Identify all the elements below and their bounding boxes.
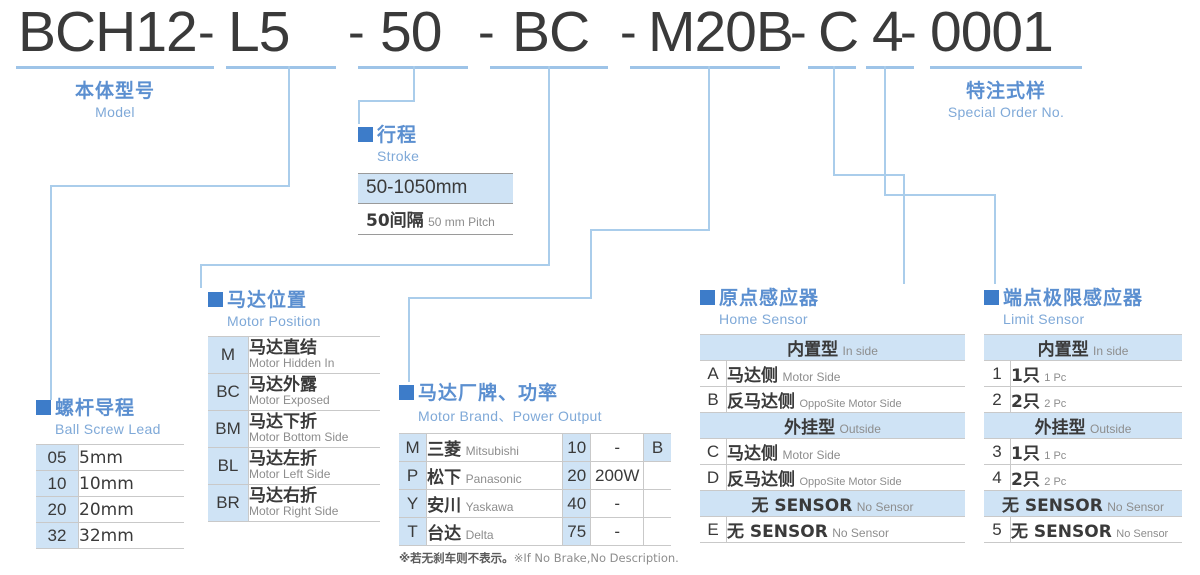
home-en-5: OppoSite Motor Side <box>799 476 901 488</box>
table-row: 5 无 SENSOR No Sensor <box>984 517 1182 543</box>
motorpos-cn-2: 马达下折 <box>249 414 380 431</box>
home-value-2: 反马达侧 OppoSite Motor Side <box>727 387 966 413</box>
bullet-square-icon <box>208 292 223 307</box>
brand-brake-1 <box>643 462 671 490</box>
home-en-4: Motor Side <box>782 448 840 462</box>
limit-code-4: 3 <box>984 439 1011 465</box>
brand-power-code-1: 20 <box>563 462 591 490</box>
section-special-title-cn: 特注式样 <box>966 80 1046 102</box>
limit-banner-en-6: No Sensor <box>1107 500 1164 514</box>
code-segment-motor-brand: M20B <box>648 2 793 62</box>
table-row: 4 2只 2 Pc <box>984 465 1182 491</box>
underline-special <box>930 66 1082 69</box>
brand-cn-0: 三菱 <box>427 440 461 460</box>
code-segment-stroke: 50 <box>380 2 441 62</box>
table-row-banner: 无 SENSOR No Sensor <box>700 491 965 517</box>
section-home-title-en: Home Sensor <box>700 311 965 327</box>
section-limit-header: 端点极限感应器 <box>984 283 1182 310</box>
limit-banner-en-0: In side <box>1093 344 1128 358</box>
stroke-pitch-row: 50间隔 50 mm Pitch <box>358 204 513 235</box>
connector-brand-v1 <box>708 66 710 231</box>
section-model: 本体型号 Model <box>35 76 195 120</box>
home-code-5: D <box>700 465 727 491</box>
brand-brake-0: B <box>643 434 671 462</box>
underline-model <box>16 66 214 69</box>
motorpos-code-2: BM <box>208 411 249 448</box>
section-lead-title-en: Ball Screw Lead <box>36 421 184 437</box>
limit-cn-1: 1只 <box>1011 366 1040 386</box>
limit-cn-7: 无 SENSOR <box>1011 522 1112 542</box>
home-banner-6: 无 SENSOR No Sensor <box>700 491 965 517</box>
bullet-square-icon <box>36 400 51 415</box>
motor-brand-table: M 三菱 Mitsubishi 10 - B P 松下 Panasonic 20… <box>399 433 671 546</box>
connector-stroke-h <box>358 100 415 102</box>
brand-brake-3 <box>643 518 671 546</box>
motorpos-code-0: M <box>208 337 249 374</box>
connector-motorpos-h <box>200 264 550 266</box>
table-row: E 无 SENSOR No Sensor <box>700 517 965 543</box>
section-home-title-cn: 原点感应器 <box>719 287 819 309</box>
limit-banner-0: 内置型 In side <box>984 335 1182 361</box>
table-row: 1 1只 1 Pc <box>984 361 1182 387</box>
code-segment-model: BCH12 <box>18 2 197 62</box>
underline-limit-sensor <box>866 66 914 69</box>
table-row-banner: 外挂型 Outside <box>700 413 965 439</box>
brand-power-1: 200W <box>591 462 644 490</box>
home-cn-5: 反马达侧 <box>727 470 795 490</box>
code-segment-home-sensor: C <box>818 2 858 62</box>
connector-brand-h1 <box>590 229 710 231</box>
code-segment-special: 0001 <box>930 2 1053 62</box>
brand-code-1: P <box>399 462 427 490</box>
lead-value-0: 5mm <box>79 445 185 471</box>
limit-banner-en-3: Outside <box>1090 422 1131 436</box>
underline-lead <box>226 66 336 69</box>
section-brand-title-en: Motor Brand、Power Output <box>399 406 679 426</box>
section-ball-screw-lead: 螺杆导程 Ball Screw Lead 05 5mm 10 10mm 20 2… <box>36 393 184 549</box>
connector-lead-v1 <box>288 66 290 186</box>
brand-name-3: 台达 Delta <box>427 518 563 546</box>
lead-code-2: 20 <box>36 497 79 523</box>
connector-motorpos-v2 <box>200 264 202 288</box>
motorpos-en-2: Motor Bottom Side <box>249 431 380 444</box>
table-row: BR 马达右折 Motor Right Side <box>208 485 380 522</box>
table-row: T 台达 Delta 75 - <box>399 518 671 546</box>
section-home-header: 原点感应器 <box>700 283 965 310</box>
lead-value-text-1: 10mm <box>79 474 134 494</box>
section-motorpos-title-en: Motor Position <box>208 313 380 329</box>
motor-brand-note: ※若无刹车则不表示。※If No Brake,No Description. <box>399 550 679 566</box>
motorpos-value-0: 马达直结 Motor Hidden In <box>249 337 381 374</box>
brand-cn-1: 松下 <box>427 468 461 488</box>
motor-brand-note-en: ※If No Brake,No Description. <box>514 551 679 565</box>
section-motorpos-header: 马达位置 <box>208 285 380 312</box>
table-row-banner: 无 SENSOR No Sensor <box>984 491 1182 517</box>
home-en-1: Motor Side <box>782 370 840 384</box>
brand-power-2: - <box>591 490 644 518</box>
section-model-title-cn: 本体型号 <box>75 80 155 102</box>
underline-home-sensor <box>808 66 856 69</box>
home-cn-7: 无 SENSOR <box>727 522 828 542</box>
limit-en-4: 1 Pc <box>1044 450 1066 462</box>
brand-en-2: Yaskawa <box>466 500 514 514</box>
table-row: C 马达侧 Motor Side <box>700 439 965 465</box>
brand-name-2: 安川 Yaskawa <box>427 490 563 518</box>
section-special-header: 特注式样 <box>930 76 1082 103</box>
limit-en-2: 2 Pc <box>1044 398 1066 410</box>
brand-en-1: Panasonic <box>466 472 522 486</box>
table-row-banner: 内置型 In side <box>984 335 1182 361</box>
home-code-2: B <box>700 387 727 413</box>
brand-name-1: 松下 Panasonic <box>427 462 563 490</box>
lead-code-1: 10 <box>36 471 79 497</box>
motorpos-en-4: Motor Right Side <box>249 505 380 518</box>
home-sensor-table: 内置型 In side A 马达侧 Motor Side B 反马达侧 Oppo… <box>700 334 965 543</box>
section-stroke: 行程 Stroke 50-1050mm 50间隔 50 mm Pitch <box>358 120 513 235</box>
stroke-range-value: 50-1050mm <box>358 173 513 204</box>
table-row: 20 20mm <box>36 497 184 523</box>
limit-code-5: 4 <box>984 465 1011 491</box>
limit-banner-cn-3: 外挂型 <box>1035 418 1086 438</box>
section-motorpos-title-cn: 马达位置 <box>227 289 307 311</box>
brand-power-code-3: 75 <box>563 518 591 546</box>
limit-code-7: 5 <box>984 517 1011 543</box>
bullet-square-icon <box>358 127 373 142</box>
motorpos-code-4: BR <box>208 485 249 522</box>
table-row: 05 5mm <box>36 445 184 471</box>
limit-value-1: 1只 1 Pc <box>1011 361 1183 387</box>
limit-value-2: 2只 2 Pc <box>1011 387 1183 413</box>
connector-home-h <box>833 174 905 176</box>
motorpos-value-2: 马达下折 Motor Bottom Side <box>249 411 381 448</box>
limit-cn-5: 2只 <box>1011 470 1040 490</box>
section-stroke-title-cn: 行程 <box>377 124 417 146</box>
section-lead-header: 螺杆导程 <box>36 393 184 420</box>
connector-brand-v3 <box>408 297 410 382</box>
table-row: D 反马达侧 OppoSite Motor Side <box>700 465 965 491</box>
limit-code-1: 1 <box>984 361 1011 387</box>
lead-value-1: 10mm <box>79 471 185 497</box>
code-dash-4: - <box>620 2 637 62</box>
motorpos-cn-0: 马达直结 <box>249 340 380 357</box>
bullet-square-icon <box>700 290 715 305</box>
home-value-5: 反马达侧 OppoSite Motor Side <box>727 465 966 491</box>
connector-lead-v2 <box>50 185 52 400</box>
brand-power-code-2: 40 <box>563 490 591 518</box>
motorpos-value-4: 马达右折 Motor Right Side <box>249 485 381 522</box>
lead-code-3: 32 <box>36 523 79 549</box>
limit-code-2: 2 <box>984 387 1011 413</box>
section-motor-position: 马达位置 Motor Position M 马达直结 Motor Hidden … <box>208 285 380 522</box>
table-row: BM 马达下折 Motor Bottom Side <box>208 411 380 448</box>
brand-code-2: Y <box>399 490 427 518</box>
motor-brand-note-cn: ※若无刹车则不表示。 <box>399 551 514 565</box>
limit-en-7: No Sensor <box>1116 528 1168 540</box>
table-row-banner: 内置型 In side <box>700 335 965 361</box>
limit-en-5: 2 Pc <box>1044 476 1066 488</box>
brand-power-code-0: 10 <box>563 434 591 462</box>
connector-brand-h2 <box>408 297 592 299</box>
code-dash-5: - <box>790 2 807 62</box>
brand-en-3: Delta <box>466 528 494 542</box>
home-banner-cn-3: 外挂型 <box>784 418 835 438</box>
home-code-4: C <box>700 439 727 465</box>
section-brand-title-cn: 马达厂牌、功率 <box>418 382 558 404</box>
section-lead-title-cn: 螺杆导程 <box>55 397 135 419</box>
stroke-pitch-en: 50 mm Pitch <box>428 215 495 229</box>
code-dash-2: - <box>348 2 365 62</box>
home-banner-en-6: No Sensor <box>857 500 914 514</box>
model-code-row: BCH12 - L5 - 50 - BC - M20B - C 4 - 0001 <box>0 2 1200 64</box>
lead-value-text-2: 20mm <box>79 500 134 520</box>
code-dash-1: - <box>198 2 215 62</box>
limit-banner-cn-0: 内置型 <box>1038 340 1089 360</box>
section-special-order: 特注式样 Special Order No. <box>930 76 1082 120</box>
motor-position-table: M 马达直结 Motor Hidden In BC 马达外露 Motor Exp… <box>208 336 380 522</box>
table-row: 10 10mm <box>36 471 184 497</box>
model-code-diagram: BCH12 - L5 - 50 - BC - M20B - C 4 - 0001 <box>0 0 1200 575</box>
connector-limit-h <box>884 194 996 196</box>
limit-banner-6: 无 SENSOR No Sensor <box>984 491 1182 517</box>
limit-value-4: 1只 1 Pc <box>1011 439 1183 465</box>
home-en-2: OppoSite Motor Side <box>799 398 901 410</box>
home-code-7: E <box>700 517 727 543</box>
section-special-title-en: Special Order No. <box>930 104 1082 120</box>
home-en-7: No Sensor <box>832 526 889 540</box>
home-cn-1: 马达侧 <box>727 366 778 386</box>
connector-limit-v1 <box>884 66 886 196</box>
ball-screw-lead-table: 05 5mm 10 10mm 20 20mm 32 32mm <box>36 444 184 549</box>
code-segment-limit-sensor: 4 <box>872 2 903 62</box>
home-code-1: A <box>700 361 727 387</box>
code-dash-3: - <box>478 2 495 62</box>
section-motor-brand: 马达厂牌、功率 Motor Brand、Power Output M 三菱 Mi… <box>399 378 679 566</box>
lead-value-2: 20mm <box>79 497 185 523</box>
home-banner-en-3: Outside <box>840 422 881 436</box>
brand-power-0: - <box>591 434 644 462</box>
limit-value-5: 2只 2 Pc <box>1011 465 1183 491</box>
table-row: M 马达直结 Motor Hidden In <box>208 337 380 374</box>
home-value-7: 无 SENSOR No Sensor <box>727 517 966 543</box>
motorpos-en-0: Motor Hidden In <box>249 357 380 370</box>
table-row: M 三菱 Mitsubishi 10 - B <box>399 434 671 462</box>
home-banner-3: 外挂型 Outside <box>700 413 965 439</box>
lead-value-text-0: 5mm <box>79 448 123 468</box>
table-row: 3 1只 1 Pc <box>984 439 1182 465</box>
brand-power-3: - <box>591 518 644 546</box>
home-banner-0: 内置型 In side <box>700 335 965 361</box>
limit-cn-4: 1只 <box>1011 444 1040 464</box>
limit-sensor-table: 内置型 In side 1 1只 1 Pc 2 2只 2 Pc <box>984 334 1182 543</box>
motorpos-cn-1: 马达外露 <box>249 377 380 394</box>
motorpos-value-1: 马达外露 Motor Exposed <box>249 374 381 411</box>
brand-brake-2 <box>643 490 671 518</box>
code-segment-motor-pos: BC <box>512 2 589 62</box>
motorpos-en-3: Motor Left Side <box>249 468 380 481</box>
home-cn-2: 反马达侧 <box>727 392 795 412</box>
lead-value-text-3: 32mm <box>79 526 134 546</box>
limit-en-1: 1 Pc <box>1044 372 1066 384</box>
section-stroke-title-en: Stroke <box>358 148 513 164</box>
motorpos-code-3: BL <box>208 448 249 485</box>
table-row-banner: 外挂型 Outside <box>984 413 1182 439</box>
table-row: BC 马达外露 Motor Exposed <box>208 374 380 411</box>
section-home-sensor: 原点感应器 Home Sensor 内置型 In side A 马达侧 Moto… <box>700 283 965 543</box>
table-row: BL 马达左折 Motor Left Side <box>208 448 380 485</box>
brand-code-3: T <box>399 518 427 546</box>
connector-brand-v2 <box>590 229 592 299</box>
home-banner-cn-6: 无 SENSOR <box>752 496 853 516</box>
lead-code-0: 05 <box>36 445 79 471</box>
home-banner-en-0: In side <box>843 344 878 358</box>
table-row: 2 2只 2 Pc <box>984 387 1182 413</box>
connector-limit-v2 <box>994 194 996 284</box>
section-model-title-en: Model <box>35 104 195 120</box>
brand-code-0: M <box>399 434 427 462</box>
brand-en-0: Mitsubishi <box>466 444 519 458</box>
section-limit-title-en: Limit Sensor <box>984 311 1182 327</box>
section-limit-sensor: 端点极限感应器 Limit Sensor 内置型 In side 1 1只 1 … <box>984 283 1182 543</box>
stroke-pitch-cn: 50间隔 <box>366 211 424 231</box>
bullet-square-icon <box>984 290 999 305</box>
limit-banner-cn-6: 无 SENSOR <box>1002 496 1103 516</box>
limit-cn-2: 2只 <box>1011 392 1040 412</box>
motorpos-cn-4: 马达右折 <box>249 488 380 505</box>
motorpos-value-3: 马达左折 Motor Left Side <box>249 448 381 485</box>
code-dash-6: - <box>900 2 917 62</box>
bullet-square-icon <box>399 385 414 400</box>
section-stroke-header: 行程 <box>358 120 513 147</box>
connector-home-v2 <box>903 174 905 284</box>
motorpos-cn-3: 马达左折 <box>249 451 380 468</box>
motorpos-code-1: BC <box>208 374 249 411</box>
table-row: B 反马达侧 OppoSite Motor Side <box>700 387 965 413</box>
brand-name-0: 三菱 Mitsubishi <box>427 434 563 462</box>
connector-home-v1 <box>833 66 835 176</box>
underline-motor-brand <box>630 66 780 69</box>
connector-stroke-v1 <box>413 66 415 102</box>
limit-value-7: 无 SENSOR No Sensor <box>1011 517 1183 543</box>
table-row: A 马达侧 Motor Side <box>700 361 965 387</box>
table-row: Y 安川 Yaskawa 40 - <box>399 490 671 518</box>
section-limit-title-cn: 端点极限感应器 <box>1003 287 1143 309</box>
limit-banner-3: 外挂型 Outside <box>984 413 1182 439</box>
lead-value-3: 32mm <box>79 523 185 549</box>
connector-motorpos-v1 <box>548 66 550 266</box>
brand-cn-3: 台达 <box>427 524 461 544</box>
section-brand-header: 马达厂牌、功率 <box>399 378 679 405</box>
brand-cn-2: 安川 <box>427 496 461 516</box>
table-row: 32 32mm <box>36 523 184 549</box>
table-row: P 松下 Panasonic 20 200W <box>399 462 671 490</box>
home-cn-4: 马达侧 <box>727 444 778 464</box>
home-value-1: 马达侧 Motor Side <box>727 361 966 387</box>
home-value-4: 马达侧 Motor Side <box>727 439 966 465</box>
code-segment-lead: L5 <box>228 2 289 62</box>
home-banner-cn-0: 内置型 <box>787 340 838 360</box>
motorpos-en-1: Motor Exposed <box>249 394 380 407</box>
connector-lead-h <box>50 185 290 187</box>
section-model-header: 本体型号 <box>35 76 195 103</box>
